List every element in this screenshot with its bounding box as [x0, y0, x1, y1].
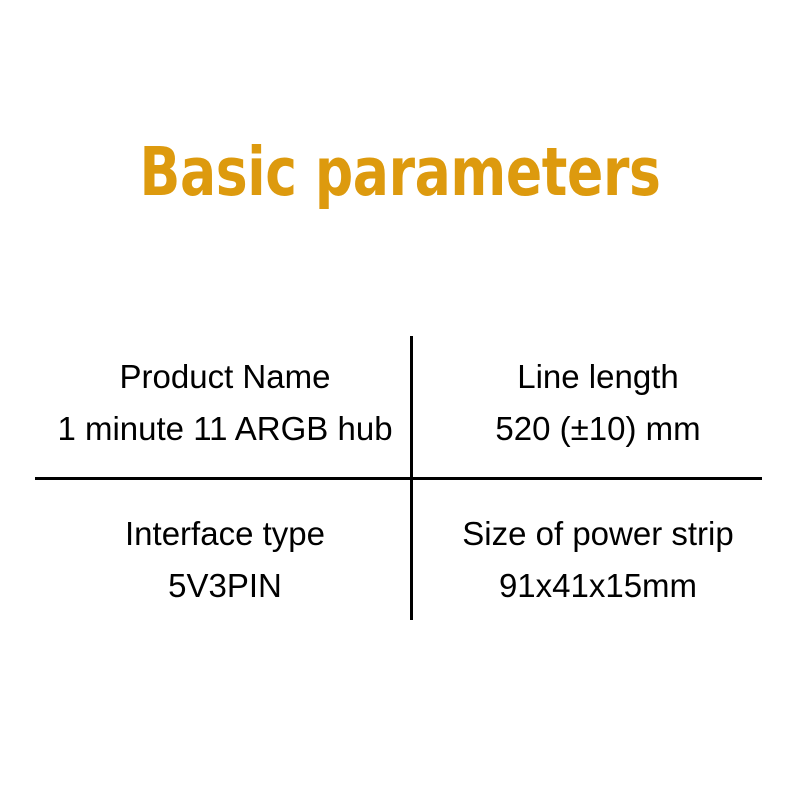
spec-cell-line-length: Line length 520 (±10) mm — [413, 360, 783, 445]
spec-cell-interface-type: Interface type 5V3PIN — [40, 517, 410, 602]
page-title: Basic parameters — [80, 136, 720, 208]
spec-label: Product Name — [40, 360, 410, 393]
table-horizontal-divider — [35, 477, 762, 480]
product-spec-page: Basic parameters Product Name 1 minute 1… — [0, 0, 800, 800]
spec-value: 5V3PIN — [40, 569, 410, 602]
spec-label: Size of power strip — [413, 517, 783, 550]
spec-cell-size-of-power-strip: Size of power strip 91x41x15mm — [413, 517, 783, 602]
spec-value: 1 minute 11 ARGB hub — [40, 412, 410, 445]
spec-cell-product-name: Product Name 1 minute 11 ARGB hub — [40, 360, 410, 445]
spec-value: 91x41x15mm — [413, 569, 783, 602]
spec-table: Product Name 1 minute 11 ARGB hub Line l… — [0, 336, 800, 620]
spec-value: 520 (±10) mm — [413, 412, 783, 445]
spec-label: Interface type — [40, 517, 410, 550]
spec-label: Line length — [413, 360, 783, 393]
